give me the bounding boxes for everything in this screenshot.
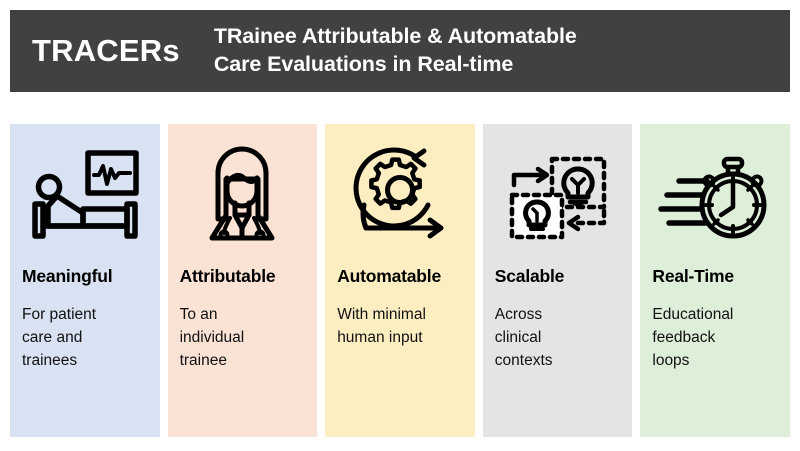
- title-banner: TRACERs TRainee Attributable & Automatab…: [10, 10, 790, 92]
- subtitle-line-2: Care Evaluations in Real-time: [214, 51, 790, 79]
- patient-in-hospital-bed-with-ecg-monitor-icon: [10, 136, 160, 254]
- card-body: To an individual trainee: [180, 304, 314, 373]
- card-body-line: Educational: [652, 304, 786, 327]
- card-heading: Attributable: [180, 266, 276, 287]
- card-body: For patient care and trainees: [22, 304, 156, 373]
- card-body-line: For patient: [22, 304, 156, 327]
- card-body-line: feedback: [652, 327, 786, 350]
- card-body-line: trainee: [180, 350, 314, 373]
- card-body-line: loops: [652, 350, 786, 373]
- card-heading: Meaningful: [22, 266, 112, 287]
- card-attributable: Attributable To an individual trainee: [168, 124, 318, 437]
- card-body: With minimal human input: [337, 304, 471, 350]
- card-meaningful: Meaningful For patient care and trainees: [10, 124, 160, 437]
- card-body-line: individual: [180, 327, 314, 350]
- gear-with-circular-arrows-automation-icon: [325, 136, 475, 254]
- card-body: Educational feedback loops: [652, 304, 786, 373]
- card-body-line: contexts: [495, 350, 629, 373]
- card-body-line: Across: [495, 304, 629, 327]
- subtitle-block: TRainee Attributable & Automatable Care …: [214, 23, 790, 79]
- card-body-line: To an: [180, 304, 314, 327]
- card-body-line: With minimal: [337, 304, 471, 327]
- female-doctor-with-stethoscope-icon: [168, 136, 318, 254]
- stopwatch-with-speed-lines-icon: [640, 136, 790, 254]
- card-body: Across clinical contexts: [495, 304, 629, 373]
- card-heading: Scalable: [495, 266, 564, 287]
- card-heading: Real-Time: [652, 266, 734, 287]
- subtitle-line-1: TRainee Attributable & Automatable: [214, 23, 790, 51]
- card-body-line: clinical: [495, 327, 629, 350]
- card-scalable: Scalable Across clinical contexts: [483, 124, 633, 437]
- card-body-line: human input: [337, 327, 471, 350]
- card-body-line: trainees: [22, 350, 156, 373]
- acronym-title: TRACERs: [32, 33, 180, 69]
- feature-card-row: Meaningful For patient care and trainees: [10, 124, 790, 437]
- card-real-time: Real-Time Educational feedback loops: [640, 124, 790, 437]
- card-body-line: care and: [22, 327, 156, 350]
- card-heading: Automatable: [337, 266, 441, 287]
- card-automatable: Automatable With minimal human input: [325, 124, 475, 437]
- two-lightbulb-cards-with-exchange-arrows-icon: [483, 136, 633, 254]
